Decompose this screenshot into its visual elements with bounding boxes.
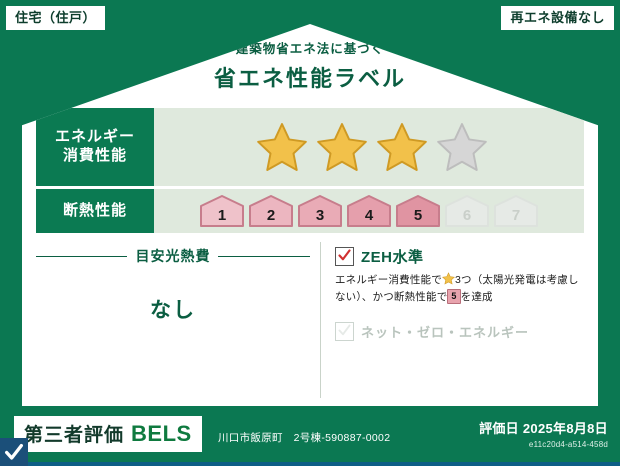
utility-cost-box: 目安光熱費 なし [36,242,321,398]
utility-cost-value: なし [36,294,310,324]
evaluation-date-label: 評価日 [479,421,519,436]
insulation-grade-2: 2 [248,194,294,228]
star-filled-icon [255,121,309,173]
energy-consumption-label: エネルギー 消費性能 [36,108,154,186]
insulation-grade-number: 6 [463,207,471,228]
bels-en-text: BELS [131,421,192,447]
zeh-title-line: ZEH水準 [335,246,584,267]
insulation-grade-number: 1 [218,207,226,228]
label-footer: 第三者評価 BELS 川口市飯原町 2号棟-590887-0002 評価日 20… [0,406,620,466]
zeh-title: ZEH水準 [361,246,424,267]
energy-label-root: 住宅（住戸） 再エネ設備なし 建築物省エネ法に基づく 省エネ性能ラベル エネルギ… [0,0,620,466]
insulation-grade-5: 5 [395,194,441,228]
utility-cost-heading-text: 目安光熱費 [135,246,210,266]
insulation-grade-1: 1 [199,194,245,228]
insulation-grade-number: 3 [316,207,324,228]
bels-plate: 第三者評価 BELS [14,416,202,452]
label-title: 省エネ性能ラベル [22,61,598,93]
energy-consumption-label-line2: 消費性能 [63,147,127,166]
building-type-tag: 住宅（住戸） [6,6,105,30]
bels-jp-text: 第三者評価 [24,420,124,447]
heading-rule-left [36,256,127,257]
evaluation-date: 評価日 2025年8月8日 [479,418,608,437]
star-rating [249,121,489,173]
label-heading: 建築物省エネ法に基づく 省エネ性能ラベル [22,38,598,93]
energy-consumption-value [154,108,584,186]
insulation-grade-scale: 1234567 [199,194,539,228]
insulation-row: 断熱性能 1234567 [36,189,584,233]
label-subtitle: 建築物省エネ法に基づく [22,38,598,57]
insulation-grade-number: 2 [267,207,275,228]
verified-checkbox[interactable] [0,438,28,466]
insulation-value: 1234567 [154,189,584,233]
property-address: 川口市飯原町 2号棟-590887-0002 [218,430,390,445]
star-empty-icon [435,121,489,173]
insulation-label: 断熱性能 [36,189,154,233]
lower-section: 目安光熱費 なし ZEH水準 エネルギー消費性能で3つ（太陽光発電は考慮しない）… [36,242,584,398]
check-icon [3,441,25,463]
label-house-panel: 建築物省エネ法に基づく 省エネ性能ラベル エネルギー 消費性能 断熱性能 123… [22,24,598,406]
zeh-box: ZEH水準 エネルギー消費性能で3つ（太陽光発電は考慮しない）、かつ断熱性能で5… [321,242,584,398]
zeh-desc-part3: を達成 [461,291,493,303]
star-filled-icon [375,121,429,173]
evaluation-date-value: 2025年8月8日 [523,421,608,436]
zeh-description: エネルギー消費性能で3つ（太陽光発電は考慮しない）、かつ断熱性能で5を達成 [335,272,584,306]
insulation-grade-number: 4 [365,207,373,228]
evaluation-info: 評価日 2025年8月8日 e11c20d4-a514-458d [479,418,608,449]
energy-consumption-row: エネルギー 消費性能 [36,108,584,186]
insulation-grade-number: 5 [414,207,422,228]
zeh-desc-part1: エネルギー消費性能で [335,274,442,286]
insulation-label-line1: 断熱性能 [63,202,127,221]
mini-star-icon [442,272,455,285]
net-zero-energy-checkbox[interactable] [335,322,354,341]
footer-stripe [0,462,620,466]
net-zero-energy-line: ネット・ゼロ・エネルギー [335,322,584,341]
utility-cost-heading: 目安光熱費 [36,246,310,266]
rating-rows: エネルギー 消費性能 断熱性能 1234567 [36,108,584,236]
net-zero-energy-label: ネット・ゼロ・エネルギー [361,322,529,341]
energy-consumption-label-line1: エネルギー [55,128,135,147]
insulation-grade-4: 4 [346,194,392,228]
insulation-grade-7: 7 [493,194,539,228]
insulation-grade-6: 6 [444,194,490,228]
evaluation-id: e11c20d4-a514-458d [479,440,608,449]
insulation-grade-3: 3 [297,194,343,228]
zeh-desc-grade-chip: 5 [447,289,460,305]
star-filled-icon [315,121,369,173]
renewable-energy-tag: 再エネ設備なし [501,6,614,30]
heading-rule-right [218,256,309,257]
zeh-checkbox[interactable] [335,247,354,266]
insulation-grade-number: 7 [512,207,520,228]
